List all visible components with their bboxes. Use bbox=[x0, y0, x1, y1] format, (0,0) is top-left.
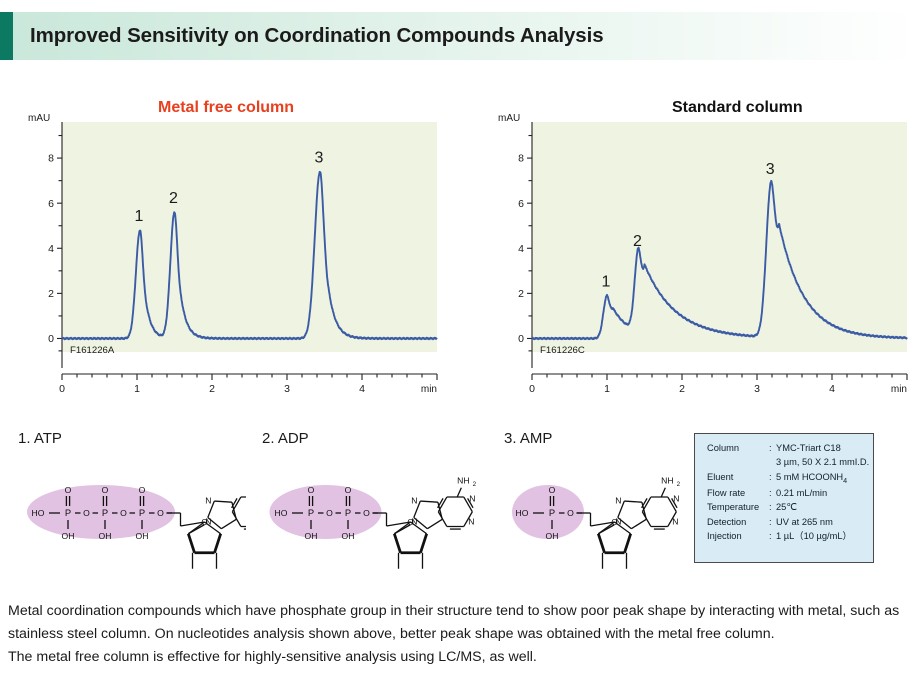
atom-label: O bbox=[549, 485, 556, 495]
y-axis-label: mAU bbox=[498, 113, 520, 124]
structure-amp: 3. AMP HOPOOHOOOHOHNNNNNH2 bbox=[500, 430, 700, 569]
atom-label: P bbox=[308, 507, 314, 518]
y-axis-tick-label: 8 bbox=[48, 153, 54, 165]
atom-label: O bbox=[345, 485, 352, 495]
bond-line bbox=[188, 534, 194, 553]
chromatogram-svg: 02468mAU01234minF161226C123 bbox=[488, 112, 908, 395]
bond-line bbox=[394, 534, 400, 553]
y-axis-tick-label: 2 bbox=[518, 288, 524, 300]
atom-label: OH bbox=[99, 531, 112, 541]
atom-label: HO bbox=[32, 508, 45, 518]
conditions-separator: : bbox=[769, 531, 776, 545]
y-axis-tick-label: 4 bbox=[518, 243, 524, 255]
conditions-separator: : bbox=[769, 443, 776, 457]
conditions-key: Column bbox=[707, 443, 769, 457]
conditions-value: UV at 265 nm bbox=[776, 517, 869, 531]
atom-label: OH bbox=[546, 531, 559, 541]
x-axis-tick-label: 4 bbox=[359, 383, 365, 395]
atom-label: P bbox=[549, 507, 555, 518]
atom-label: P bbox=[102, 507, 108, 518]
conditions-table: Column:YMC-Triart C183 µm, 50 X 2.1 mmI.… bbox=[707, 443, 869, 546]
peak-label: 3 bbox=[315, 150, 324, 167]
atom-label: O bbox=[157, 508, 164, 518]
plot-background bbox=[62, 122, 437, 352]
atom-label: O bbox=[139, 485, 146, 495]
y-axis-tick-label: 4 bbox=[48, 243, 54, 255]
atom-label: OH bbox=[136, 531, 149, 541]
bond-line bbox=[214, 501, 232, 502]
x-axis-tick-label: 1 bbox=[134, 383, 140, 395]
atom-label: N bbox=[673, 494, 679, 504]
structure-label-atp: 1. ATP bbox=[18, 430, 246, 447]
atom-label: HO bbox=[516, 508, 529, 518]
conditions-value-subscript: 4 bbox=[843, 476, 847, 485]
atom-label: N bbox=[615, 496, 621, 506]
atom-label: O bbox=[363, 508, 370, 518]
conditions-key-empty bbox=[707, 457, 769, 471]
atom-label: O bbox=[83, 508, 90, 518]
atom-label: O bbox=[308, 485, 315, 495]
structure-label-adp: 2. ADP bbox=[262, 430, 490, 447]
conditions-value-line2: 3 µm, 50 X 2.1 mmI.D. bbox=[776, 457, 869, 471]
conditions-row-continuation: 3 µm, 50 X 2.1 mmI.D. bbox=[707, 457, 869, 471]
conditions-key: Eluent bbox=[707, 472, 769, 488]
conditions-separator: : bbox=[769, 488, 776, 502]
conditions-value: 1 µL（10 µg/mL） bbox=[776, 531, 869, 545]
header-accent-bar bbox=[0, 12, 13, 60]
atom-label: O bbox=[567, 508, 574, 518]
atom-label: N bbox=[468, 517, 474, 527]
atom-label: N bbox=[411, 496, 417, 506]
bond-line bbox=[598, 525, 614, 534]
peak-label: 3 bbox=[766, 161, 775, 178]
structure-diagram-atp: HOPOOHOPOOHOPOOHOOOHOHNNNNNH2 bbox=[14, 451, 246, 569]
structure-atp: 1. ATP HOPOOHOPOOHOPOOHOOOHOHNNNNNH2 bbox=[14, 430, 246, 569]
x-axis-tick-label: 3 bbox=[284, 383, 290, 395]
bond-line bbox=[214, 534, 220, 553]
bond-line bbox=[631, 519, 646, 528]
slide-header: Improved Sensitivity on Coordination Com… bbox=[0, 12, 920, 60]
chromatogram-standard: 02468mAU01234minF161226C123 bbox=[488, 112, 908, 395]
x-axis-tick-label: 3 bbox=[754, 383, 760, 395]
atom-label: NH bbox=[457, 476, 469, 486]
conditions-row: Column:YMC-Triart C18 bbox=[707, 443, 869, 457]
atom-label: HO bbox=[275, 508, 288, 518]
x-axis-tick-label: 0 bbox=[529, 383, 535, 395]
bond-line bbox=[457, 488, 461, 497]
bond-line bbox=[642, 512, 651, 527]
chromatogram-metal-free: 02468mAU01234minF161226A123 bbox=[18, 112, 438, 395]
bond-line bbox=[598, 534, 604, 553]
body-text: Metal coordination compounds which have … bbox=[8, 600, 914, 669]
x-axis-label: min bbox=[891, 384, 907, 395]
atom-label: P bbox=[345, 507, 351, 518]
structure-diagram-amp: HOPOOHOOOHOHNNNNNH2 bbox=[500, 451, 700, 569]
conditions-row: Detection:UV at 265 nm bbox=[707, 517, 869, 531]
atom-label: O bbox=[326, 508, 333, 518]
structure-adp: 2. ADP HOPOOHOPOOHOOOHOHNNNNNH2 bbox=[258, 430, 490, 569]
x-axis-tick-label: 0 bbox=[59, 383, 65, 395]
body-paragraph-1: Metal coordination compounds which have … bbox=[8, 600, 914, 646]
conditions-key: Injection bbox=[707, 531, 769, 545]
bond-line bbox=[624, 534, 630, 553]
conditions-row: Temperature:25℃ bbox=[707, 502, 869, 516]
atom-label: OH bbox=[62, 531, 75, 541]
conditions-row: Flow rate:0.21 mL/min bbox=[707, 488, 869, 502]
atom-label: N bbox=[469, 494, 475, 504]
conditions-value: 0.21 mL/min bbox=[776, 488, 869, 502]
peak-label: 1 bbox=[602, 274, 611, 291]
atom-label: O bbox=[102, 485, 109, 495]
structure-svg: HOPOOHOPOOHOOOHOHNNNNNH2 bbox=[258, 451, 490, 569]
y-axis-label: mAU bbox=[28, 113, 50, 124]
structure-svg: HOPOOHOPOOHOPOOHOOOHOHNNNNNH2 bbox=[14, 451, 246, 569]
conditions-key: Flow rate bbox=[707, 488, 769, 502]
atom-label-subscript: 2 bbox=[473, 481, 477, 488]
conditions-value: YMC-Triart C18 bbox=[776, 443, 869, 457]
page-title: Improved Sensitivity on Coordination Com… bbox=[13, 24, 604, 48]
bond-line bbox=[221, 519, 236, 528]
conditions-separator: : bbox=[769, 502, 776, 516]
y-axis-tick-label: 6 bbox=[48, 198, 54, 210]
y-axis-tick-label: 0 bbox=[518, 333, 524, 345]
chromatogram-svg: 02468mAU01234minF161226A123 bbox=[18, 112, 438, 395]
conditions-key: Temperature bbox=[707, 502, 769, 516]
bond-line bbox=[438, 512, 447, 527]
x-axis-tick-label: 2 bbox=[679, 383, 685, 395]
bond-line bbox=[232, 512, 241, 527]
sample-id-label: F161226A bbox=[70, 345, 115, 356]
conditions-separator: : bbox=[769, 472, 776, 488]
conditions-row: Injection:1 µL（10 µg/mL） bbox=[707, 531, 869, 545]
conditions-separator: : bbox=[769, 517, 776, 531]
atom-label: N bbox=[672, 517, 678, 527]
bond-line bbox=[394, 525, 410, 534]
plot-background bbox=[532, 122, 907, 352]
atom-label: O bbox=[120, 508, 127, 518]
conditions-key: Detection bbox=[707, 517, 769, 531]
atom-label: P bbox=[65, 507, 71, 518]
atom-label: P bbox=[139, 507, 145, 518]
conditions-box: Column:YMC-Triart C183 µm, 50 X 2.1 mmI.… bbox=[694, 433, 874, 563]
peak-label: 1 bbox=[135, 208, 144, 225]
bond-line bbox=[427, 519, 442, 528]
x-axis-tick-label: 4 bbox=[829, 383, 835, 395]
atom-label: O bbox=[65, 485, 72, 495]
x-axis-label: min bbox=[421, 384, 437, 395]
structure-diagram-adp: HOPOOHOPOOHOOOHOHNNNNNH2 bbox=[258, 451, 490, 569]
y-axis-tick-label: 8 bbox=[518, 153, 524, 165]
slide-page: Improved Sensitivity on Coordination Com… bbox=[0, 0, 920, 697]
bond-line bbox=[624, 501, 642, 502]
conditions-separator-empty bbox=[769, 457, 776, 471]
bond-line bbox=[420, 501, 438, 502]
x-axis-tick-label: 1 bbox=[604, 383, 610, 395]
peak-label: 2 bbox=[633, 233, 642, 250]
x-axis-tick-label: 2 bbox=[209, 383, 215, 395]
bond-line bbox=[420, 534, 426, 553]
y-axis-tick-label: 6 bbox=[518, 198, 524, 210]
body-paragraph-2: The metal free column is effective for h… bbox=[8, 646, 914, 669]
conditions-value: 5 mM HCOONH4 bbox=[776, 472, 869, 488]
bond-line bbox=[661, 488, 665, 497]
atom-label: OH bbox=[342, 531, 355, 541]
peak-label: 2 bbox=[169, 190, 178, 207]
conditions-row: Eluent:5 mM HCOONH4 bbox=[707, 472, 869, 488]
atom-label-subscript: 2 bbox=[677, 481, 681, 488]
structure-label-amp: 3. AMP bbox=[504, 430, 700, 447]
bond-line bbox=[188, 525, 204, 534]
atom-label: N bbox=[205, 496, 211, 506]
atom-label: NH bbox=[661, 476, 673, 486]
y-axis-tick-label: 2 bbox=[48, 288, 54, 300]
conditions-value: 25℃ bbox=[776, 502, 869, 516]
y-axis-tick-label: 0 bbox=[48, 333, 54, 345]
sample-id-label: F161226C bbox=[540, 345, 585, 356]
structure-svg: HOPOOHOOOHOHNNNNNH2 bbox=[500, 451, 700, 569]
atom-label: OH bbox=[305, 531, 318, 541]
